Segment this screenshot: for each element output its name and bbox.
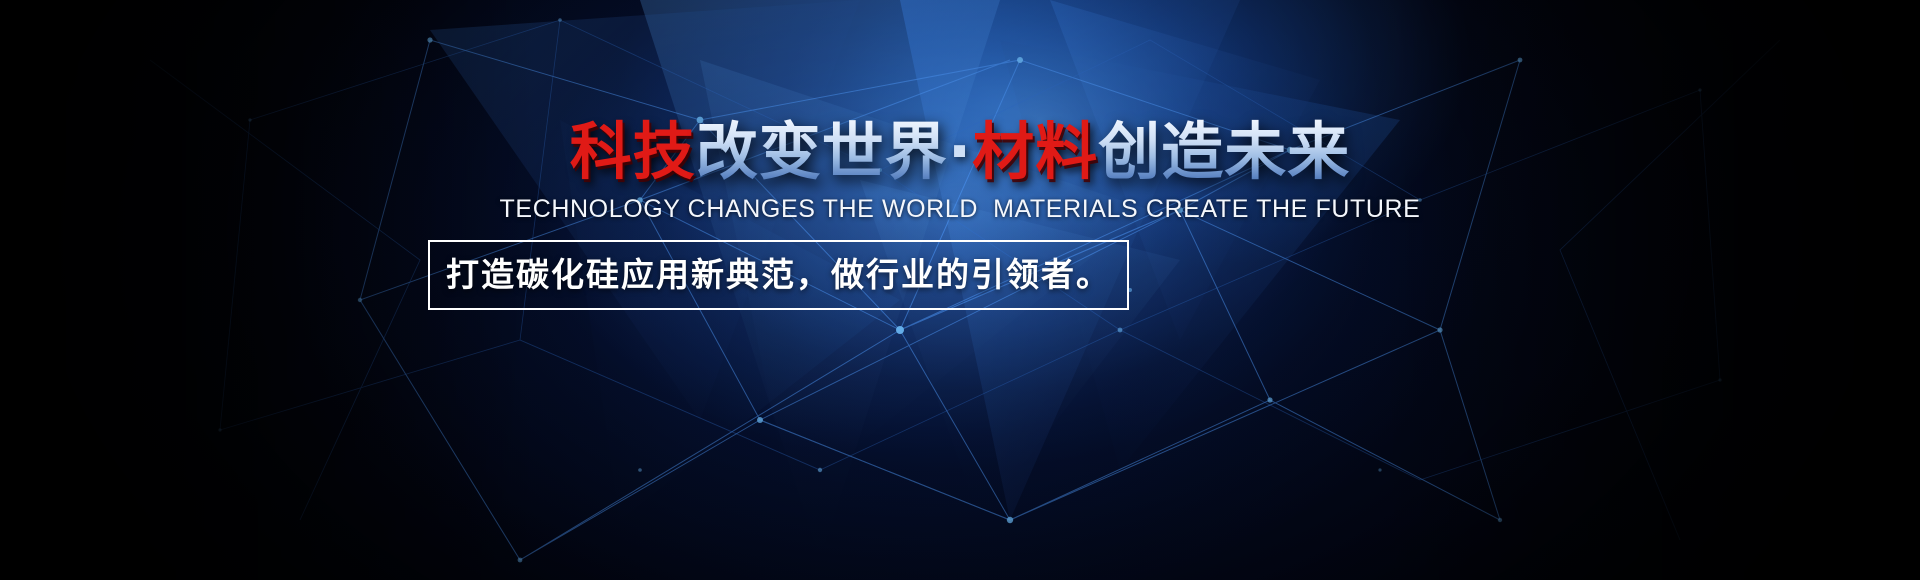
headline-segment-4: 创造未来 xyxy=(1098,118,1350,186)
headline-subtitle: TECHNOLOGY CHANGES THE WORLD MATERIALS C… xyxy=(0,194,1920,224)
headline-segment-3: 材料 xyxy=(972,118,1098,186)
headline: 科技改变世界·材料创造未来 xyxy=(0,118,1920,186)
tagline-box: 打造碳化硅应用新典范，做行业的引领者。 xyxy=(428,240,1129,310)
headline-segment-1: 科技 xyxy=(570,118,696,186)
tagline-text: 打造碳化硅应用新典范，做行业的引领者。 xyxy=(446,256,1111,294)
headline-separator-dot: · xyxy=(948,118,973,186)
hero-banner: 科技改变世界·材料创造未来 TECHNOLOGY CHANGES THE WOR… xyxy=(0,0,1920,580)
headline-segment-2: 改变世界 xyxy=(696,118,948,186)
banner-content: 科技改变世界·材料创造未来 TECHNOLOGY CHANGES THE WOR… xyxy=(0,0,1920,580)
